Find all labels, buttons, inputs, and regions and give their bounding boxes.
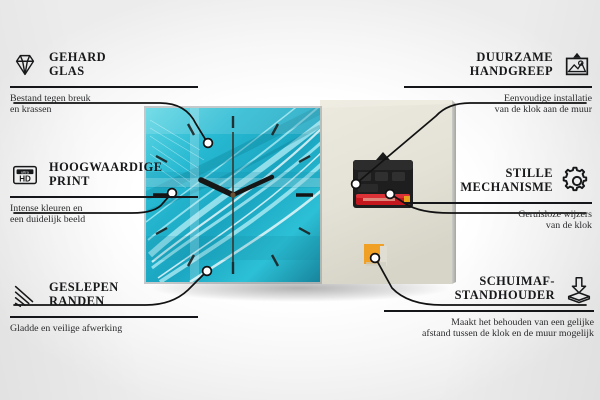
- title-line-2: RANDEN: [49, 295, 119, 309]
- desc-line-1: Bestand tegen breuk: [10, 93, 198, 105]
- feature-description: Gladde en veilige afwerking: [10, 323, 198, 335]
- desc-line-1: Maakt het behouden van een gelijke: [384, 317, 594, 329]
- connector-dot-houder: [371, 254, 380, 263]
- title-line-1: HOOGWAARDIGE: [49, 161, 162, 175]
- feature-stille-mechanisme: STILLE MECHANISME Geruisloze wijzers van…: [404, 164, 592, 232]
- desc-line-2: afstand tussen de klok en de muur mogeli…: [384, 328, 594, 340]
- title-line-2: MECHANISME: [460, 181, 553, 195]
- diamond-icon: [10, 50, 40, 80]
- feature-title: DUURZAME HANDGREEP: [470, 51, 553, 78]
- feature-description: Intense kleuren en een duidelijk beeld: [10, 203, 198, 226]
- divider-rule: [404, 86, 592, 88]
- divider-rule: [10, 86, 198, 88]
- feature-description: Eenvoudige installatie van de klok aan d…: [404, 93, 592, 116]
- feature-title: GESLEPEN RANDEN: [49, 281, 119, 308]
- feature-description: Bestand tegen breuk en krassen: [10, 93, 198, 116]
- desc-line-2: van de klok: [404, 220, 592, 232]
- title-line-1: GEHARD: [49, 51, 106, 65]
- feature-header: ultra HD HOOGWAARDIGE PRINT: [10, 158, 198, 192]
- feature-title: STILLE MECHANISME: [460, 167, 553, 194]
- desc-line-2: van de klok aan de muur: [404, 104, 592, 116]
- feature-title: GEHARD GLAS: [49, 51, 106, 78]
- title-line-2: HANDGREEP: [470, 65, 553, 79]
- feature-duurzame-handgreep: DUURZAME HANDGREEP Eenvoudige installati…: [404, 48, 592, 116]
- picture-frame-icon: [562, 50, 592, 80]
- divider-rule: [10, 316, 198, 318]
- gear-icon: [562, 166, 592, 196]
- connector-dot-mechanisme: [386, 190, 395, 199]
- desc-line-1: Intense kleuren en: [10, 203, 198, 215]
- desc-line-2: en krassen: [10, 104, 198, 116]
- title-line-2: GLAS: [49, 65, 106, 79]
- feature-header: GEHARD GLAS: [10, 48, 198, 82]
- diagonal-lines-icon: [10, 280, 40, 310]
- down-arrow-stack-icon: [564, 274, 594, 304]
- feature-header: GESLEPEN RANDEN: [10, 278, 198, 312]
- feature-header: STILLE MECHANISME: [404, 164, 592, 198]
- title-line-2: PRINT: [49, 175, 162, 189]
- divider-rule: [404, 202, 592, 204]
- feature-header: SCHUIMAF- STANDHOUDER: [384, 272, 594, 306]
- ultra-hd-icon: ultra HD: [10, 160, 40, 190]
- feature-header: DUURZAME HANDGREEP: [404, 48, 592, 82]
- title-line-1: DUURZAME: [470, 51, 553, 65]
- svg-text:HD: HD: [19, 175, 31, 184]
- connector-dot-handgreep: [352, 180, 361, 189]
- title-line-2: STANDHOUDER: [455, 289, 555, 303]
- feature-description: Maakt het behouden van een gelijke afsta…: [384, 317, 594, 340]
- title-line-1: GESLEPEN: [49, 281, 119, 295]
- title-line-1: SCHUIMAF-: [455, 275, 555, 289]
- desc-line-1: Gladde en veilige afwerking: [10, 323, 198, 335]
- divider-rule: [10, 196, 198, 198]
- feature-title: SCHUIMAF- STANDHOUDER: [455, 275, 555, 302]
- desc-line-1: Geruisloze wijzers: [404, 209, 592, 221]
- desc-line-1: Eenvoudige installatie: [404, 93, 592, 105]
- feature-schuimafstandhouder: SCHUIMAF- STANDHOUDER Maakt het behouden…: [384, 272, 594, 340]
- feature-title: HOOGWAARDIGE PRINT: [49, 161, 162, 188]
- connector-dot-gehard: [204, 139, 213, 148]
- feature-description: Geruisloze wijzers van de klok: [404, 209, 592, 232]
- connector-dot-randen: [203, 267, 212, 276]
- feature-geslepen-randen: GESLEPEN RANDEN Gladde en veilige afwerk…: [10, 278, 198, 334]
- desc-line-2: een duidelijk beeld: [10, 214, 198, 226]
- divider-rule: [384, 310, 594, 312]
- feature-hoogwaardige-print: ultra HD HOOGWAARDIGE PRINT Intense kleu…: [10, 158, 198, 226]
- title-line-1: STILLE: [460, 167, 553, 181]
- feature-gehard-glas: GEHARD GLAS Bestand tegen breuk en krass…: [10, 48, 198, 116]
